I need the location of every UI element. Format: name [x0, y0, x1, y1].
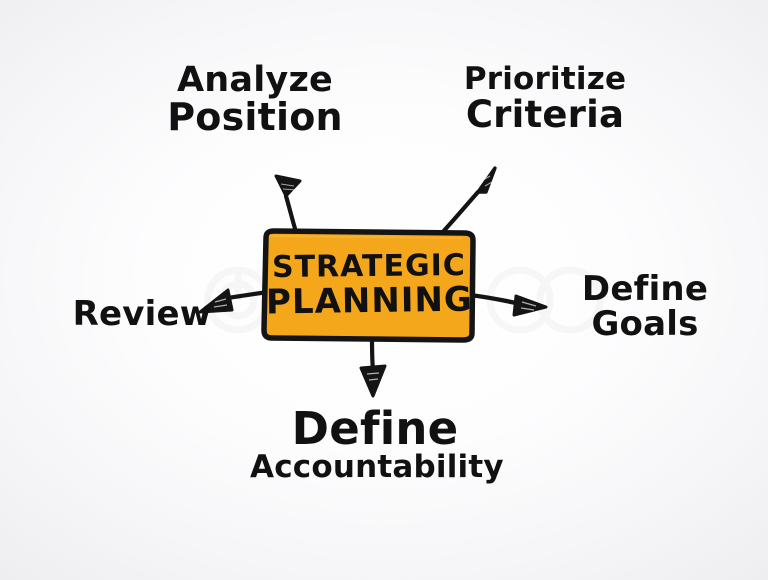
branch-define-goals-line1: Define: [545, 272, 745, 307]
branch-label-review[interactable]: Review: [62, 297, 222, 332]
arrow-analyze-position: [276, 176, 300, 232]
branch-review-line1: Review: [62, 297, 222, 332]
branch-prioritize-criteria-line1: Prioritize: [440, 64, 650, 96]
center-node-line2: PLANNING: [265, 283, 472, 320]
mind-map-canvas: STRATEGIC PLANNING Analyze Position Prio…: [0, 0, 768, 580]
branch-label-analyze-position[interactable]: Analyze Position: [150, 62, 360, 137]
branch-analyze-position-line1: Analyze: [150, 62, 360, 98]
arrow-prioritize-criteria: [441, 168, 495, 234]
arrow-define-goals: [470, 295, 546, 315]
branch-define-accountability-line1: Define: [250, 406, 500, 452]
branch-label-define-accountability[interactable]: Define Accountability: [250, 406, 500, 484]
branch-prioritize-criteria-line2: Criteria: [440, 96, 650, 134]
branch-define-goals-line2: Goals: [545, 307, 745, 342]
center-node-line1: STRATEGIC: [272, 251, 466, 283]
branch-define-accountability-line2: Accountability: [250, 452, 500, 484]
arrow-define-accountability: [361, 336, 385, 396]
branch-analyze-position-line2: Position: [150, 98, 360, 137]
branch-label-prioritize-criteria[interactable]: Prioritize Criteria: [440, 64, 650, 134]
branch-label-define-goals[interactable]: Define Goals: [545, 272, 745, 342]
center-node-text: STRATEGIC PLANNING: [264, 231, 474, 339]
center-node[interactable]: STRATEGIC PLANNING: [264, 231, 474, 339]
